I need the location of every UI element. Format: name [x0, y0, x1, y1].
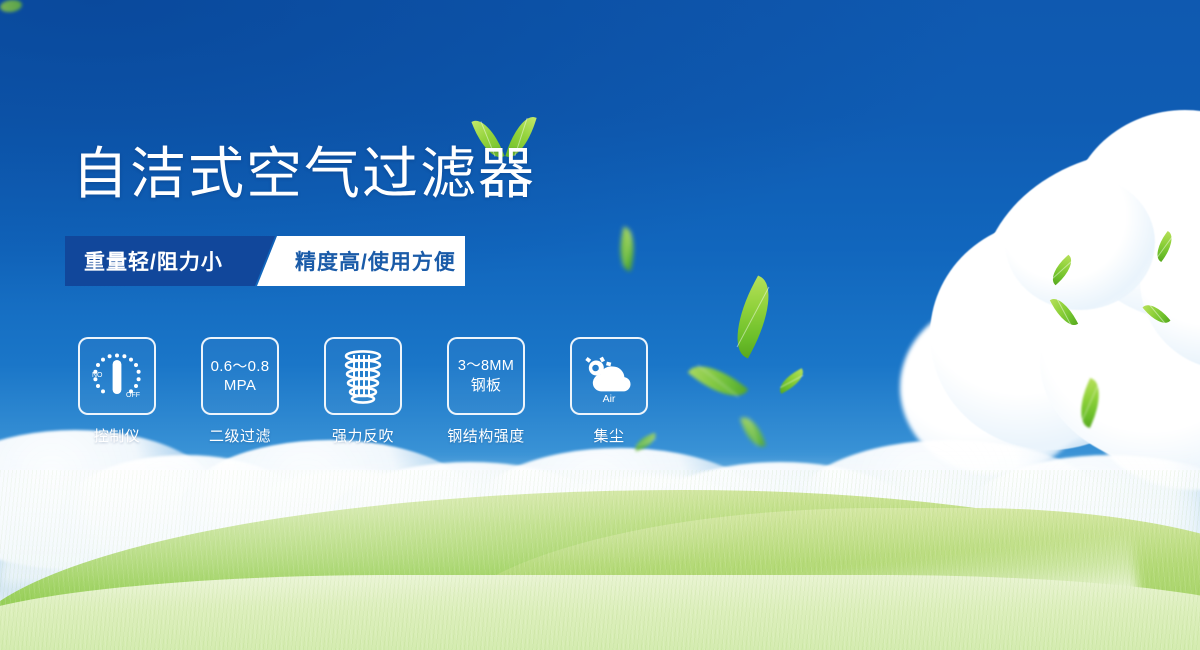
- steel-thickness-text: 3～8MM: [458, 357, 514, 376]
- feature-item-steel[interactable]: 3～8MM 钢板 钢结构强度: [447, 337, 525, 446]
- pressure-value-icon: 0.6～0.8 MPA: [201, 337, 279, 415]
- feature-item-controller[interactable]: NO OFF 控制仪: [78, 337, 156, 446]
- feature-label: 集尘: [593, 425, 624, 446]
- steel-plate-icon: 3～8MM 钢板: [447, 337, 525, 415]
- feature-list: NO OFF 控制仪 0.6～0.8 MPA 二级过滤: [78, 337, 648, 446]
- feature-item-pressure[interactable]: 0.6～0.8 MPA 二级过滤: [201, 337, 279, 446]
- page-title: 自洁式空气过滤器: [72, 141, 536, 207]
- subtitle-bar: 重量轻/阻力小 精度高/使用方便: [65, 236, 465, 286]
- gauge-off-label: OFF: [126, 392, 140, 399]
- gauge-no-label: NO: [92, 372, 103, 379]
- cloud-air-label: Air: [603, 393, 616, 405]
- subtitle-left-panel: 重量轻/阻力小: [65, 236, 275, 286]
- feature-label: 二级过滤: [209, 425, 271, 446]
- feature-item-backblow[interactable]: 强力反吹: [324, 337, 402, 446]
- pressure-range-text: 0.6～0.8: [211, 357, 270, 376]
- cloud-air-icon: Air: [570, 337, 648, 415]
- filter-coil-icon: [324, 337, 402, 415]
- grass-field: [0, 470, 1200, 650]
- gauge-dial-icon: NO OFF: [78, 337, 156, 415]
- subtitle-right-text: 精度高/使用方便: [295, 246, 456, 276]
- hero-banner: 自洁式空气过滤器 重量轻/阻力小 精度高/使用方便: [0, 0, 1200, 650]
- steel-material-text: 钢板: [458, 376, 514, 395]
- feature-label: 控制仪: [94, 425, 141, 446]
- subtitle-right-panel: 精度高/使用方便: [257, 236, 465, 286]
- feature-label: 强力反吹: [332, 425, 394, 446]
- pressure-unit-text: MPA: [211, 376, 270, 395]
- feature-item-dust[interactable]: Air 集尘: [570, 337, 648, 446]
- subtitle-left-text: 重量轻/阻力小: [84, 246, 223, 276]
- feature-label: 钢结构强度: [447, 425, 525, 446]
